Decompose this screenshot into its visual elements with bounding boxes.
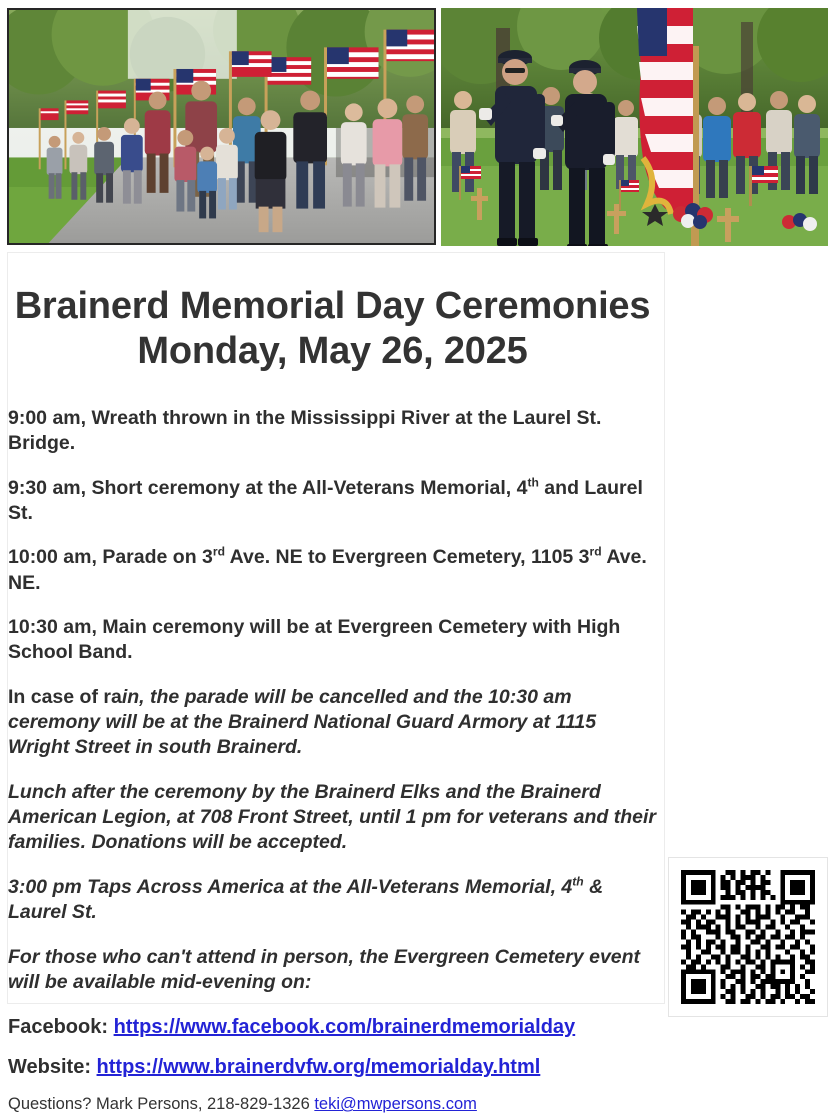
schedule-item-1000: 10:00 am, Parade on 3rd Ave. NE to Everg… bbox=[8, 545, 658, 596]
ordinal-suffix-4th: th bbox=[527, 475, 538, 489]
schedule-time-0930: 9:30 am, bbox=[8, 477, 86, 499]
schedule-text-1000-mid: Ave. NE to Evergreen Cemetery, 1105 3 bbox=[225, 546, 590, 568]
schedule-text-1030: Main ceremony will be at Evergreen Cemet… bbox=[8, 616, 620, 663]
page-title-line-2: Monday, May 26, 2025 bbox=[0, 329, 665, 374]
website-label: Website: bbox=[8, 1056, 91, 1078]
ordinal-suffix-3rd-a: rd bbox=[213, 545, 225, 559]
facebook-link[interactable]: https://www.facebook.com/brainerdmemoria… bbox=[114, 1016, 576, 1038]
schedule-time-0900: 9:00 am, bbox=[8, 407, 86, 429]
parade-photo bbox=[7, 8, 436, 245]
schedule-time-1000: 10:00 am, bbox=[8, 546, 97, 568]
facebook-label: Facebook: bbox=[8, 1016, 108, 1038]
website-line: Website: https://www.brainerdvfw.org/mem… bbox=[8, 1054, 658, 1080]
event-details: 9:00 am, Wreath thrown in the Mississipp… bbox=[8, 406, 658, 1116]
page-title-line-1: Brainerd Memorial Day Ceremonies bbox=[0, 284, 665, 329]
schedule-text-0900: Wreath thrown in the Mississippi River a… bbox=[8, 407, 601, 454]
taps-paragraph: 3:00 pm Taps Across America at the All-V… bbox=[8, 875, 658, 926]
lunch-paragraph: Lunch after the ceremony by the Brainerd… bbox=[8, 780, 658, 856]
taps-text: 3:00 pm Taps Across America at the All-V… bbox=[8, 876, 572, 898]
salute-photo bbox=[441, 8, 828, 246]
qr-code[interactable] bbox=[668, 857, 828, 1017]
contact-line: Questions? Mark Persons, 218-829-1326 te… bbox=[8, 1094, 658, 1115]
schedule-item-0930: 9:30 am, Short ceremony at the All-Veter… bbox=[8, 476, 658, 527]
rain-plan-paragraph: In case of rain, the parade will be canc… bbox=[8, 685, 658, 761]
remote-viewing-paragraph: For those who can't attend in person, th… bbox=[8, 945, 658, 996]
email-link[interactable]: teki@mwpersons.com bbox=[314, 1095, 477, 1113]
website-link[interactable]: https://www.brainerdvfw.org/memorialday.… bbox=[97, 1056, 541, 1078]
rain-plan-upright: In case of ra bbox=[8, 686, 122, 708]
schedule-time-1030: 10:30 am, bbox=[8, 616, 97, 638]
facebook-line: Facebook: https://www.facebook.com/brain… bbox=[8, 1014, 658, 1040]
ordinal-suffix-4th-taps: th bbox=[572, 874, 583, 888]
schedule-item-1030: 10:30 am, Main ceremony will be at Everg… bbox=[8, 615, 658, 666]
ordinal-suffix-3rd-b: rd bbox=[590, 545, 602, 559]
page-title: Brainerd Memorial Day Ceremonies Monday,… bbox=[0, 284, 665, 374]
schedule-text-0930: Short ceremony at the All-Veterans Memor… bbox=[86, 477, 527, 499]
schedule-item-0900: 9:00 am, Wreath thrown in the Mississipp… bbox=[8, 406, 658, 457]
schedule-text-1000: Parade on 3 bbox=[97, 546, 213, 568]
contact-prefix: Questions? Mark Persons, 218-829-1326 bbox=[8, 1095, 314, 1113]
